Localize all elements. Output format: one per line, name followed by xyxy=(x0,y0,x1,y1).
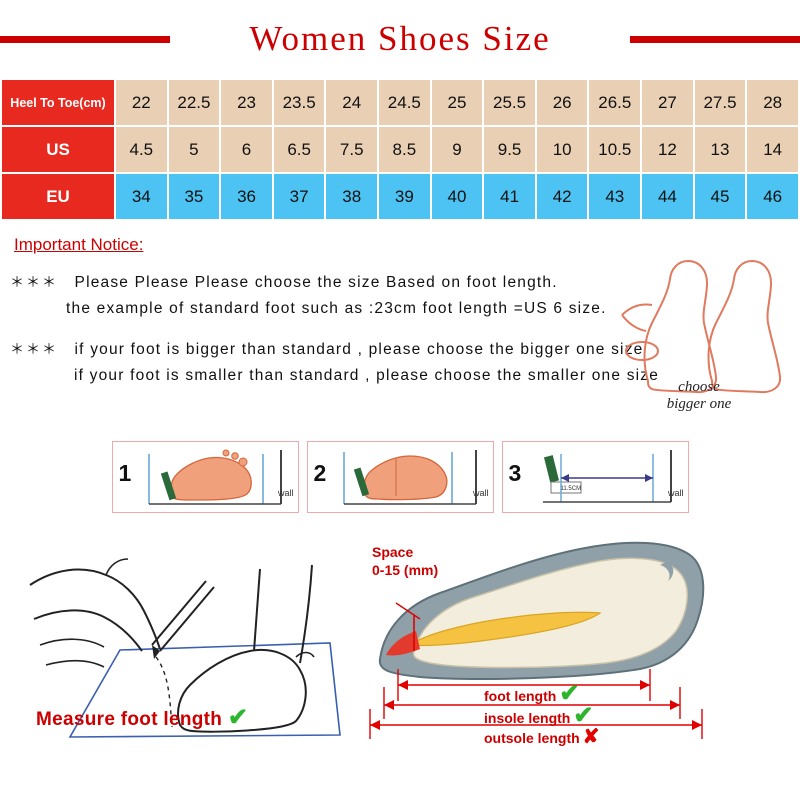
cell-eu-0: 34 xyxy=(115,173,168,220)
cell-cm-10: 27 xyxy=(641,79,694,126)
table-row-us: US 4.5 5 6 6.5 7.5 8.5 9 9.5 10 10.5 12 … xyxy=(1,126,799,173)
cell-eu-2: 36 xyxy=(220,173,273,220)
cell-cm-9: 26.5 xyxy=(588,79,641,126)
legend-item-insole-length: insole length✔ xyxy=(484,706,599,728)
cell-cm-8: 26 xyxy=(536,79,589,126)
important-notice-section: Important Notice: ＊＊＊ Please Please Plea… xyxy=(0,221,800,435)
legend-item-outsole-length: outsole length✘ xyxy=(484,728,599,748)
page-title-bar: Women Shoes Size xyxy=(0,0,800,78)
sketch-caption-line-2: bigger one xyxy=(624,396,774,413)
step-3-panel: 3 11.5CM wall xyxy=(502,441,689,513)
cell-cm-3: 23.5 xyxy=(273,79,326,126)
cell-eu-3: 37 xyxy=(273,173,326,220)
cell-eu-9: 43 xyxy=(588,173,641,220)
legend-cross-icon-outsole: ✘ xyxy=(583,726,600,748)
page-title: Women Shoes Size xyxy=(235,19,564,59)
size-chart-table: Heel To Toe(cm) 22 22.5 23 23.5 24 24.5 … xyxy=(0,78,800,221)
cell-eu-1: 35 xyxy=(168,173,221,220)
step-2-number: 2 xyxy=(314,460,327,487)
cell-eu-8: 42 xyxy=(536,173,589,220)
cell-eu-4: 38 xyxy=(325,173,378,220)
row-header-cm: Heel To Toe(cm) xyxy=(1,79,115,126)
sketch-caption: choose bigger one xyxy=(624,379,774,413)
legend-label-outsole-length: outsole length xyxy=(484,730,580,746)
measure-foot-text: Measure foot length xyxy=(36,709,222,730)
cell-us-12: 14 xyxy=(746,126,799,173)
cell-cm-5: 24.5 xyxy=(378,79,431,126)
measuring-steps-strip: 1 wall 2 wall 3 xyxy=(0,441,800,513)
cell-us-11: 13 xyxy=(694,126,747,173)
cell-cm-11: 27.5 xyxy=(694,79,747,126)
cell-us-5: 8.5 xyxy=(378,126,431,173)
cell-us-4: 7.5 xyxy=(325,126,378,173)
row-header-us: US xyxy=(1,126,115,173)
table-row-cm: Heel To Toe(cm) 22 22.5 23 23.5 24 24.5 … xyxy=(1,79,799,126)
step-1-diagram-icon xyxy=(113,442,298,512)
cell-us-9: 10.5 xyxy=(588,126,641,173)
cell-us-0: 4.5 xyxy=(115,126,168,173)
cell-cm-0: 22 xyxy=(115,79,168,126)
cell-us-10: 12 xyxy=(641,126,694,173)
step-3-wall-label: wall xyxy=(668,488,684,498)
cell-cm-7: 25.5 xyxy=(483,79,536,126)
step-2-wall-label: wall xyxy=(473,488,489,498)
cell-cm-4: 24 xyxy=(325,79,378,126)
space-label-line-2: 0-15 (mm) xyxy=(372,561,438,579)
sketch-caption-line-1: choose xyxy=(624,379,774,396)
step-1-wall-label: wall xyxy=(278,488,294,498)
step-2-panel: 2 wall xyxy=(307,441,494,513)
notice-text-1: Please Please Please choose the size Bas… xyxy=(75,274,558,291)
step-3-diagram-icon xyxy=(503,442,688,512)
measure-check-icon: ✔ xyxy=(228,704,248,731)
space-label-line-1: Space xyxy=(372,543,438,561)
shoe-length-legend: foot length✔ insole length✔ outsole leng… xyxy=(484,684,599,748)
legend-label-insole-length: insole length xyxy=(484,710,570,726)
cell-cm-2: 23 xyxy=(220,79,273,126)
space-callout: Space 0-15 (mm) xyxy=(372,543,438,579)
measure-foot-label: Measure foot length ✔ xyxy=(36,703,248,732)
cell-us-2: 6 xyxy=(220,126,273,173)
notice-text-3: if your foot is bigger than standard , p… xyxy=(75,341,644,358)
step-1-number: 1 xyxy=(119,460,132,487)
cell-eu-5: 39 xyxy=(378,173,431,220)
cell-cm-6: 25 xyxy=(431,79,484,126)
title-rule-left xyxy=(0,36,170,43)
cell-eu-6: 40 xyxy=(431,173,484,220)
step-1-panel: 1 wall xyxy=(112,441,299,513)
notice-stars-1: ＊＊＊ xyxy=(10,274,58,290)
step-3-measure-label: 11.5CM xyxy=(561,486,582,492)
row-header-eu: EU xyxy=(1,173,115,220)
notice-stars-2: ＊＊＊ xyxy=(10,341,58,357)
cell-us-1: 5 xyxy=(168,126,221,173)
cell-eu-7: 41 xyxy=(483,173,536,220)
step-3-number: 3 xyxy=(509,460,522,487)
cell-us-6: 9 xyxy=(431,126,484,173)
legend-check-icon-insole: ✔ xyxy=(573,702,593,729)
cell-cm-12: 28 xyxy=(746,79,799,126)
title-rule-right xyxy=(630,36,800,43)
step-2-diagram-icon xyxy=(308,442,493,512)
cell-eu-12: 46 xyxy=(746,173,799,220)
cell-cm-1: 22.5 xyxy=(168,79,221,126)
cell-us-3: 6.5 xyxy=(273,126,326,173)
cell-eu-10: 44 xyxy=(641,173,694,220)
cell-us-7: 9.5 xyxy=(483,126,536,173)
cell-us-8: 10 xyxy=(536,126,589,173)
legend-label-foot-length: foot length xyxy=(484,688,556,704)
cell-eu-11: 45 xyxy=(694,173,747,220)
bottom-illustrations: Measure foot length ✔ Space xyxy=(0,525,800,760)
table-row-eu: EU 34 35 36 37 38 39 40 41 42 43 44 45 4… xyxy=(1,173,799,220)
